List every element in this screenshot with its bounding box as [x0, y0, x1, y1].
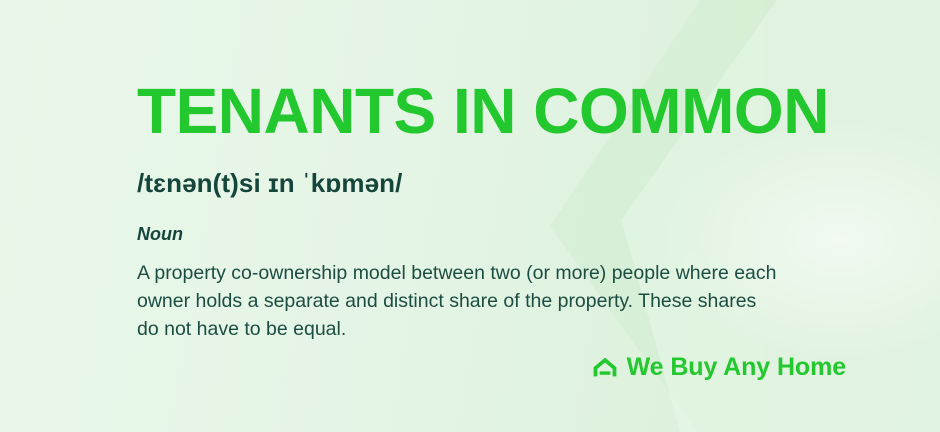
- brand-name-text: We Buy Any Home: [627, 353, 846, 381]
- pronunciation-text: /tɛnən(t)si ɪn ˈkɒmən/: [137, 167, 402, 199]
- part-of-speech-label: Noun: [137, 222, 183, 246]
- definition-text: A property co-ownership model between tw…: [137, 259, 777, 343]
- brand-lockup: We Buy Any Home: [592, 353, 846, 381]
- definition-banner: TENANTS IN COMMON /tɛnən(t)si ɪn ˈkɒmən/…: [0, 0, 940, 432]
- page-title: TENANTS IN COMMON: [137, 76, 829, 146]
- home-roof-icon: [592, 356, 618, 378]
